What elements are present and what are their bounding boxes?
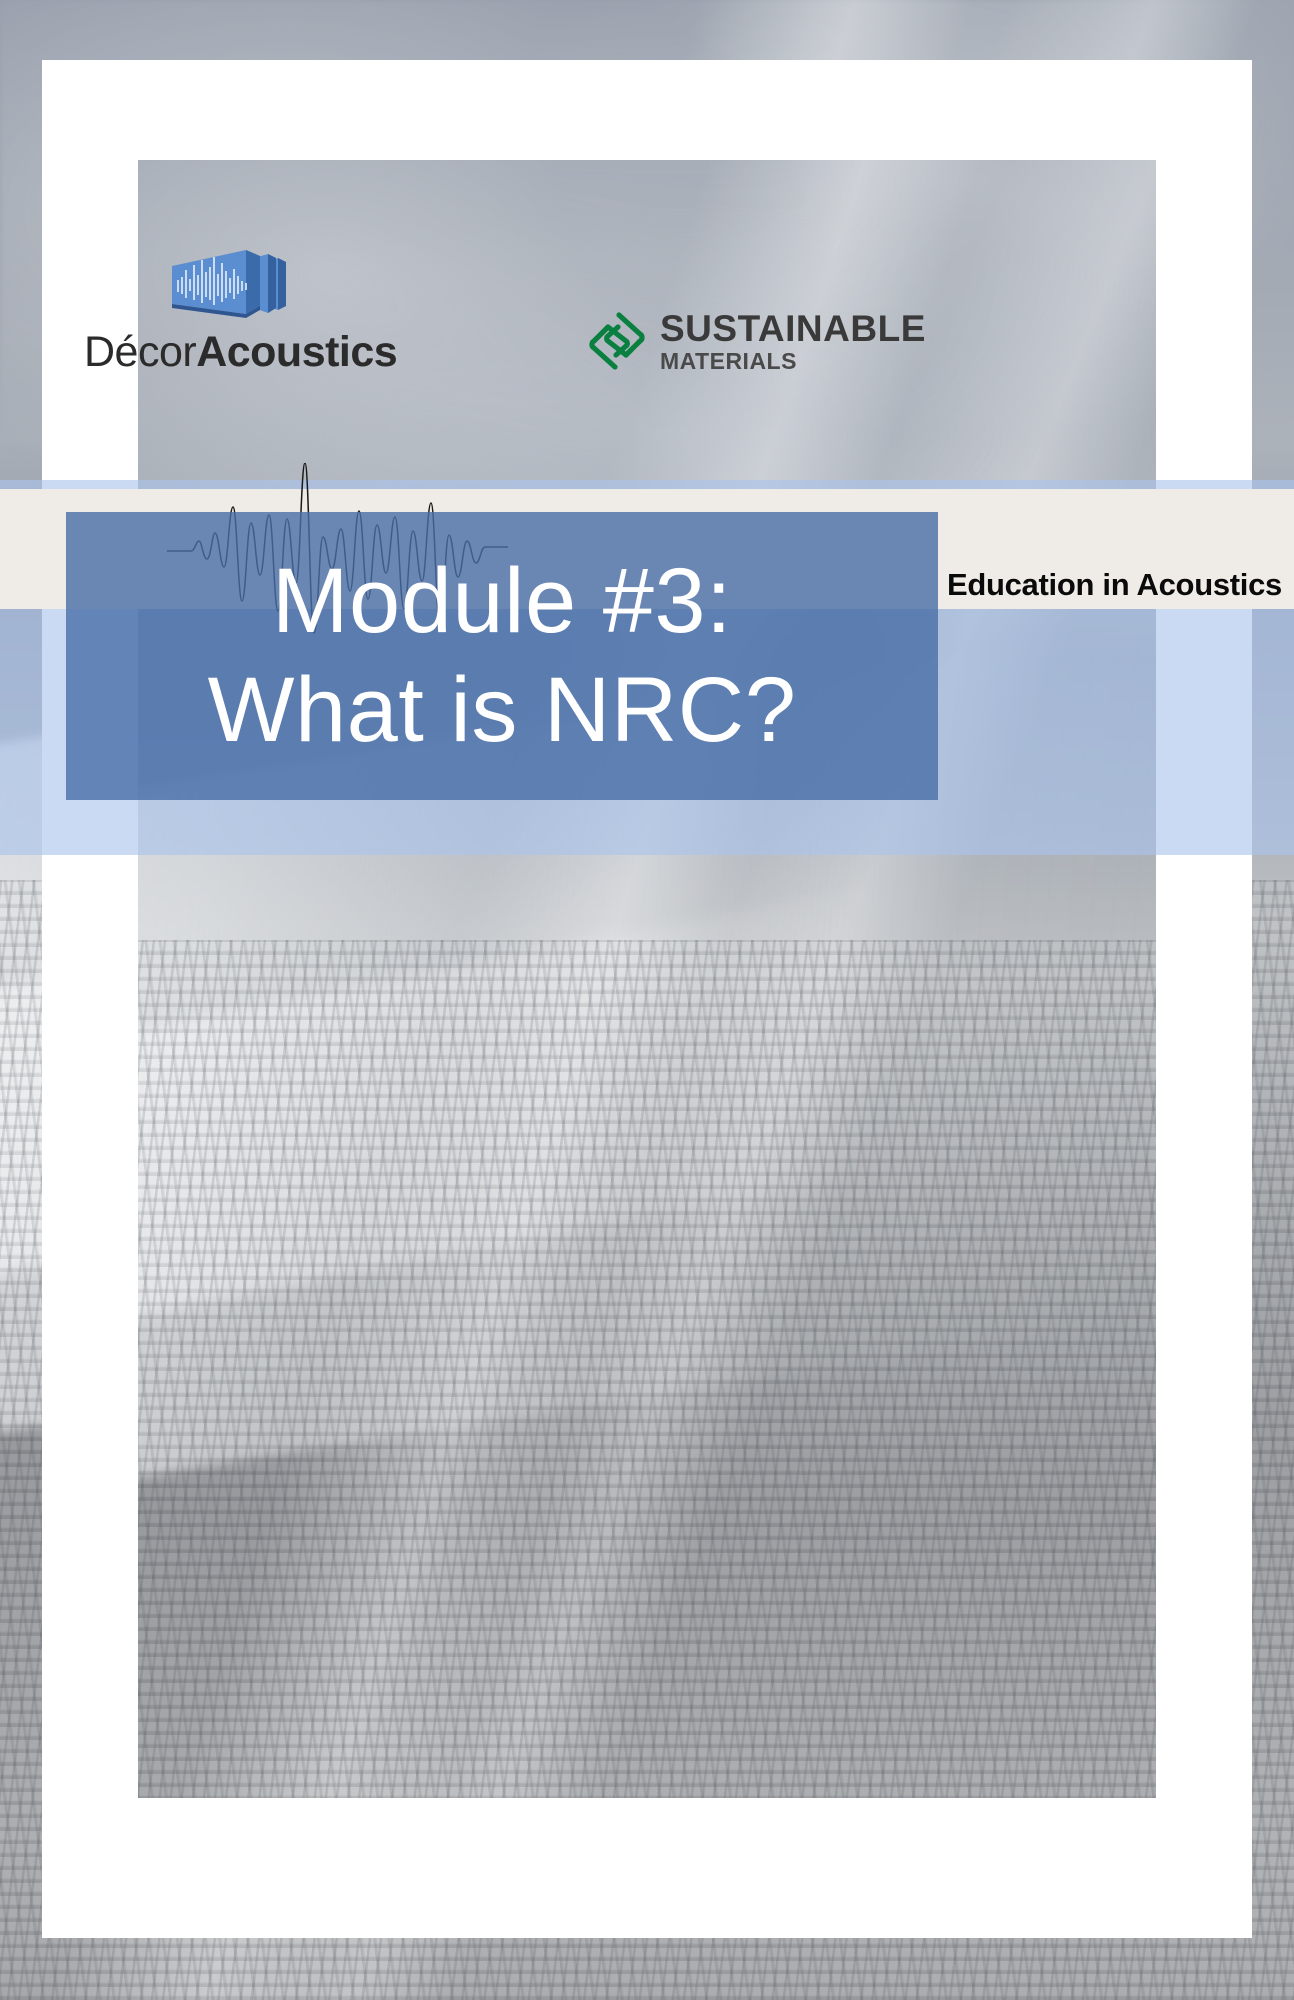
decoracoustics-wordmark-bold: Acoustics: [196, 328, 397, 376]
framed-photo-window: [138, 160, 1156, 1798]
title-line-1: Module #3:: [272, 547, 732, 656]
interlocking-s-leaf-icon: [586, 310, 648, 372]
sustainable-materials-wordmark: SUSTAINABLE MATERIALS: [660, 310, 926, 373]
sustainable-materials-line1: SUSTAINABLE: [660, 310, 926, 347]
decoracoustics-wordmark-light: Décor: [84, 328, 196, 376]
framed-photo-inner: [138, 160, 1156, 1798]
acoustic-panel-waveform-icon: [168, 248, 296, 326]
decoracoustics-wordmark: DécorAcoustics: [84, 326, 414, 378]
poster-canvas: DécorAcoustics SUSTAINABLE MATERIALS Edu…: [0, 0, 1294, 2000]
sustainable-materials-line2: MATERIALS: [660, 350, 926, 373]
decoracoustics-logo: DécorAcoustics: [84, 248, 414, 388]
framed-photo-forest: [138, 940, 1156, 1798]
education-band-label: Education in Acoustics: [947, 567, 1282, 603]
title-card: Module #3: What is NRC?: [66, 512, 938, 800]
title-line-2: What is NRC?: [208, 656, 797, 765]
sustainable-materials-logo: SUSTAINABLE MATERIALS: [586, 308, 938, 374]
